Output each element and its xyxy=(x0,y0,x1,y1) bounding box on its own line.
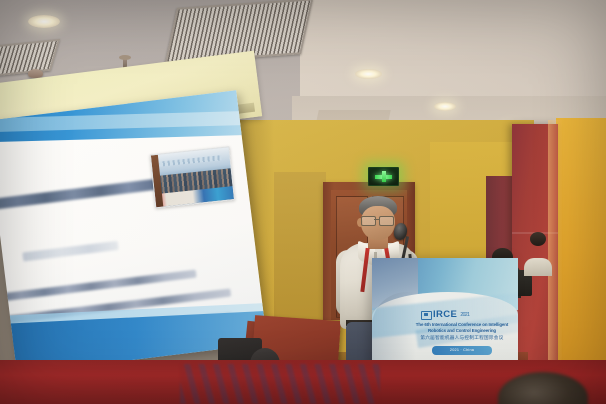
irce-logo: IRCE 2021 xyxy=(420,310,512,320)
carpet-pattern xyxy=(180,364,380,404)
audience-head xyxy=(530,232,546,246)
ceiling-downlight-icon xyxy=(355,69,382,79)
irce-robot-icon xyxy=(420,310,431,319)
conference-date-badge: 2021 · China xyxy=(432,346,492,355)
emergency-exit-sign xyxy=(368,167,399,186)
conference-title-cn: 第六届智能机器人与控制工程国际会议 xyxy=(410,335,514,341)
conference-title-en: The 6th International Conference on Inte… xyxy=(410,322,514,334)
ceiling-downlight-icon xyxy=(28,15,60,28)
projection-screen xyxy=(0,90,267,374)
irce-logo-suffix: 2021 xyxy=(460,312,469,318)
running-man-exit-icon xyxy=(375,171,392,182)
wall-beside-door xyxy=(274,172,326,322)
eyeglasses-bridge xyxy=(374,219,379,220)
audience-shoulder xyxy=(524,258,552,276)
ceiling-downlight-icon xyxy=(434,102,456,111)
slide-subtitle-text xyxy=(22,241,118,262)
slide-group-photo xyxy=(150,146,235,208)
irce-logo-text: IRCE xyxy=(433,310,457,320)
conference-photo-scene: IRCE 2021 The 6th International Conferen… xyxy=(0,0,606,404)
